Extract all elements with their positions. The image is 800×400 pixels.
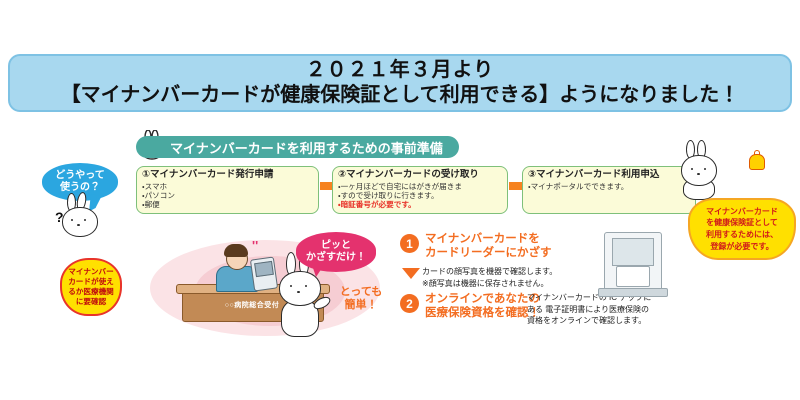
- section-title-pill: マイナンバーカードを利用するための事前準備: [136, 136, 459, 158]
- bubble-question-line-1: どうやって: [55, 170, 105, 183]
- registration-required-callout: マイナンバーカード を健康保険証として 利用するためには、 登録が必要です。: [688, 198, 796, 260]
- list-item: 郵便: [142, 200, 313, 209]
- list-item: スマホ: [142, 182, 313, 191]
- easy-line-2: 簡単！: [330, 299, 392, 312]
- callout-line-3: 利用するためには、: [706, 229, 778, 241]
- list-item: パソコン: [142, 191, 313, 200]
- item-1-desc-line-1: カードの顔写真を機器で確認します。: [422, 266, 597, 278]
- infographic-canvas: ２０２１年３月より 【マイナンバーカードが健康保険証として利用できる】ようになり…: [0, 0, 800, 400]
- preparation-steps: ①マイナンバーカード発行申請 スマホ パソコン 郵便 ②マイナンバーカードの受け…: [136, 166, 696, 216]
- numbered-item-1-description: カードの顔写真を機器で確認します。 ※顔写真は機器に保存されません。: [422, 266, 597, 289]
- hospital-check-line-2: カードが使え: [68, 277, 114, 287]
- step-2-note: 暗証番号が必要です。: [338, 200, 502, 209]
- item-1-head-line-2: カードリーダーにかざす: [425, 247, 552, 261]
- bell-icon: [747, 150, 765, 174]
- bubble-tap-line-2: かざすだけ！: [306, 252, 366, 265]
- header-line-1: ２０２１年３月より: [306, 59, 495, 81]
- item-1-desc-line-2: ※顔写真は機器に保存されません。: [422, 278, 597, 290]
- item-1-head-line-1: マイナンバーカードを: [425, 233, 552, 247]
- step-1-title: ①マイナンバーカード発行申請: [142, 170, 313, 181]
- callout-line-1: マイナンバーカード: [706, 206, 778, 218]
- rabbit-left-icon: ?: [58, 193, 104, 245]
- list-item: マイナポータルでできます。: [528, 182, 690, 191]
- rabbit-right-icon: [676, 140, 722, 198]
- numbered-item-2-heading: オンラインであなたの 医療保険資格を確認！: [425, 293, 540, 321]
- bubble-tap-line-1: ピッと: [321, 240, 351, 253]
- numbered-item-2-description: マイナンバーカードの IC チップに ある 電子証明書により医療保険の 資格をオ…: [527, 292, 687, 327]
- step-box-3: ③マイナンバーカード利用申込 マイナポータルでできます。: [522, 166, 696, 214]
- clerk-hair: [224, 244, 248, 257]
- header-line-2: 【マイナンバーカードが健康保険証として利用できる】ようになりました！: [61, 83, 740, 107]
- item-2-desc-line-3: 資格をオンラインで確認します。: [527, 315, 687, 327]
- step-2-title: ②マイナンバーカードの受け取り: [338, 170, 502, 181]
- step-3-title: ③マイナンバーカード利用申込: [528, 170, 690, 181]
- hospital-check-line-1: マイナンバー: [68, 267, 113, 277]
- hospital-check-line-4: に要確認: [76, 297, 106, 307]
- step-box-1: ①マイナンバーカード発行申請 スマホ パソコン 郵便: [136, 166, 319, 214]
- item-2-head-line-2: 医療保険資格を確認！: [425, 307, 540, 321]
- step-1-bullets: スマホ パソコン 郵便: [142, 182, 313, 210]
- easy-label: とっても 簡単！: [330, 286, 392, 312]
- speech-bubble-tap: ピッと かざすだけ！: [296, 232, 376, 272]
- number-badge-2: 2: [400, 294, 419, 313]
- card-reader-screen-scene: [254, 261, 274, 277]
- callout-line-2: を健康保険証として: [706, 217, 778, 229]
- step-3-bullets: マイナポータルでできます。: [528, 182, 690, 191]
- card-reader-screen-icon: [612, 238, 654, 266]
- item-2-desc-line-2: ある 電子証明書により医療保険の: [527, 304, 687, 316]
- callout-line-4: 登録が必要です。: [710, 241, 773, 253]
- card-reader-base: [598, 288, 668, 297]
- numbered-item-1-heading: マイナンバーカードを カードリーダーにかざす: [425, 233, 552, 261]
- sparkle-icon: '': [252, 238, 258, 253]
- number-badge-1: 1: [400, 234, 419, 253]
- hospital-check-line-3: るか医療機関: [68, 287, 114, 297]
- step-2-bullets: 一ヶ月ほどで自宅にはがきが届きま すので受け取りに行きます。 暗証番号が必要です…: [338, 182, 502, 210]
- triangle-marker-icon: [402, 268, 420, 279]
- mynumber-card-icon: [616, 266, 650, 287]
- callout-hospital-check: マイナンバー カードが使え るか医療機関 に要確認: [60, 258, 122, 316]
- header-banner: ２０２１年３月より 【マイナンバーカードが健康保険証として利用できる】ようになり…: [8, 54, 792, 112]
- step-box-2: ②マイナンバーカードの受け取り 一ヶ月ほどで自宅にはがきが届きま すので受け取り…: [332, 166, 508, 214]
- list-item: 一ヶ月ほどで自宅にはがきが届きま: [338, 182, 502, 191]
- item-2-head-line-1: オンラインであなたの: [425, 293, 540, 307]
- easy-line-1: とっても: [330, 286, 392, 299]
